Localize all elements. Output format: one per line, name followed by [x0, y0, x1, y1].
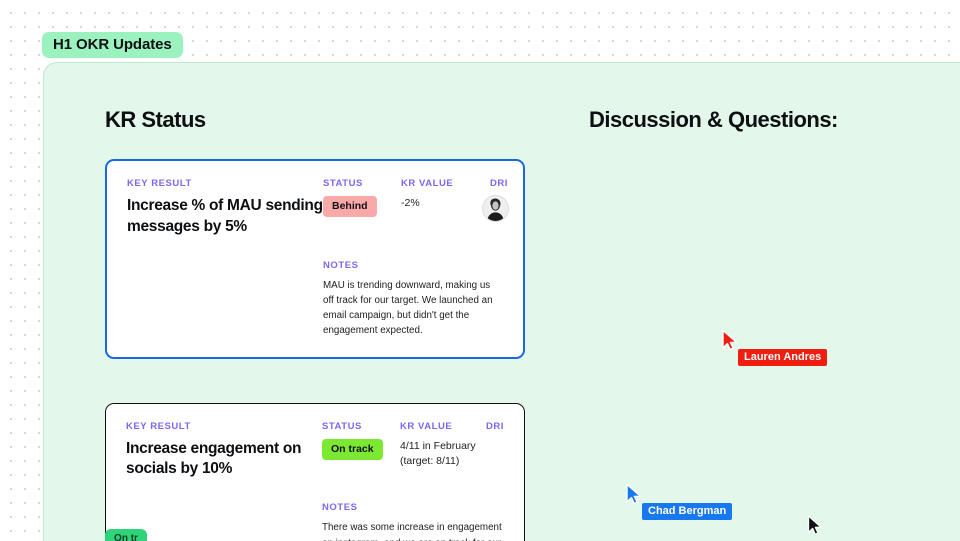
- kr-status-cell: STATUS Behind: [323, 178, 401, 238]
- kr-card[interactable]: KEY RESULT Increase engagement on social…: [105, 403, 525, 541]
- collaborator-cursor-chad: Chad Bergman: [625, 483, 643, 505]
- field-label-key-result: KEY RESULT: [127, 178, 323, 189]
- kr-dri-cell: DRI: [482, 421, 504, 481]
- field-label-dri: DRI: [483, 178, 508, 189]
- field-label-kr-value: KR VALUE: [400, 421, 482, 432]
- cursor-arrow-icon: [625, 483, 643, 505]
- kr-notes: MAU is trending downward, making us off …: [323, 278, 503, 339]
- collaborator-cursor-lauren: Lauren Andres: [721, 329, 739, 351]
- field-label-key-result: KEY RESULT: [126, 421, 322, 432]
- collaborator-name-tag: Chad Bergman: [642, 503, 732, 520]
- kr-notes: There was some increase in engagement on…: [322, 520, 504, 541]
- field-label-status: STATUS: [322, 421, 400, 432]
- kr-title: Increase % of MAU sending messages by 5%: [127, 196, 323, 238]
- collaborator-name-tag: Lauren Andres: [738, 349, 827, 366]
- field-label-status: STATUS: [323, 178, 401, 189]
- kr-value-cell: KR VALUE 4/11 in February (target: 8/11): [400, 421, 482, 481]
- kr-value-cell: KR VALUE -2%: [401, 178, 483, 238]
- kr-title: Increase engagement on socials by 10%: [126, 439, 322, 481]
- kr-value: -2%: [401, 196, 483, 211]
- kr-status-heading: KR Status: [105, 107, 525, 133]
- field-label-notes: NOTES: [322, 502, 504, 513]
- field-label-dri: DRI: [482, 421, 504, 432]
- mouse-pointer: [807, 515, 823, 541]
- discussion-heading: Discussion & Questions:: [589, 107, 960, 133]
- status-badge[interactable]: Behind: [323, 196, 377, 217]
- kr-status-column: KR Status KEY RESULT Increase % of MAU s…: [105, 107, 525, 541]
- kr-main-column: KEY RESULT Increase % of MAU sending mes…: [127, 178, 323, 238]
- discussion-column: Discussion & Questions:: [589, 107, 960, 159]
- board-canvas[interactable]: KR Status KEY RESULT Increase % of MAU s…: [43, 62, 960, 541]
- kr-card[interactable]: KEY RESULT Increase % of MAU sending mes…: [105, 159, 525, 359]
- field-label-notes: NOTES: [323, 260, 503, 271]
- whiteboard-screen: { "page": { "label": "H1 OKR Updates" },…: [0, 0, 960, 540]
- status-badge[interactable]: On track: [322, 439, 383, 460]
- kr-status-cell: STATUS On track: [322, 421, 400, 481]
- kr-notes-block: NOTES MAU is trending downward, making u…: [323, 260, 503, 339]
- kr-value: 4/11 in February (target: 8/11): [400, 439, 482, 469]
- cursor-arrow-icon: [721, 329, 739, 351]
- mouse-pointer-icon: [807, 515, 823, 537]
- kr-dri-cell: DRI: [483, 178, 508, 238]
- avatar[interactable]: [483, 196, 508, 221]
- kr-notes-block: NOTES There was some increase in engagem…: [322, 502, 504, 541]
- cut-off-status-badge[interactable]: On tr: [105, 529, 147, 541]
- kr-main-column: KEY RESULT Increase engagement on social…: [126, 421, 322, 481]
- page-label[interactable]: H1 OKR Updates: [42, 32, 183, 58]
- field-label-kr-value: KR VALUE: [401, 178, 483, 189]
